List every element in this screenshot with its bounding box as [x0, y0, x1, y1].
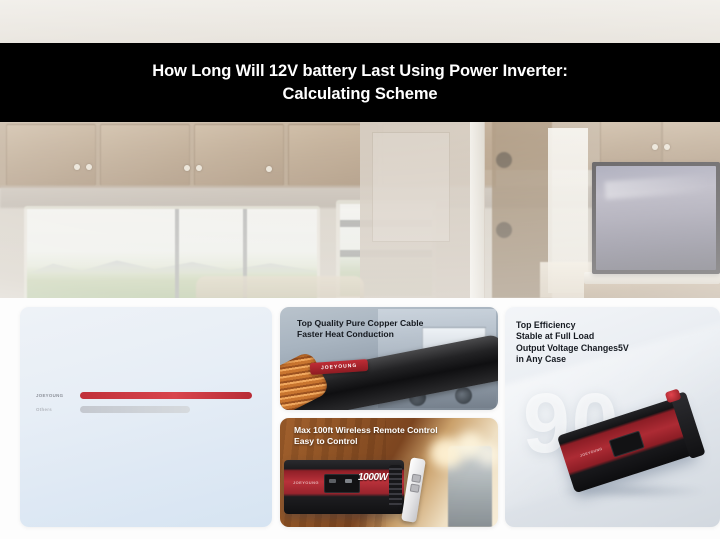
inverter-cooling-fan — [389, 465, 402, 507]
page-title-line1: How Long Will 12V battery Last Using Pow… — [30, 60, 690, 82]
title-banner: How Long Will 12V battery Last Using Pow… — [0, 43, 720, 122]
wireless-remote[interactable] — [401, 457, 426, 523]
panel-headline-efficiency: Top Efficiency Stable at Full Load Outpu… — [516, 320, 714, 365]
page-title-line2: Calculating Scheme — [30, 83, 690, 105]
inverter-product-remote-panel: JOEYOUNG 1000W — [284, 460, 404, 514]
panel-headline-remote-control: Max 100ft Wireless Remote Control Easy t… — [294, 425, 494, 447]
copper-strands — [280, 350, 331, 410]
comparison-brand-label: JOEYOUNG — [36, 393, 63, 398]
page-title: How Long Will 12V battery Last Using Pow… — [30, 60, 690, 105]
truck-wheel — [455, 387, 472, 404]
inverter-brand-label: JOEYOUNG — [293, 480, 319, 485]
comparison-other-label: Others — [36, 407, 52, 412]
comparison-chart: JOEYOUNG Others — [36, 392, 258, 426]
ac-outlet — [345, 479, 352, 483]
usb-port — [329, 479, 336, 483]
infographic-page: How Long Will 12V battery Last Using Pow… — [0, 0, 720, 539]
feature-panel-ac-power[interactable]: JOEYOUNG Others JOEYOUNG 1 — [20, 307, 272, 527]
remote-button-on[interactable] — [411, 474, 421, 483]
remote-button-off[interactable] — [410, 484, 420, 493]
panel-headline-copper-cable: Top Quality Pure Copper Cable Faster Hea… — [297, 318, 497, 340]
bokeh-light — [478, 444, 498, 466]
comparison-bar-brand — [80, 392, 252, 399]
comparison-bar-other — [80, 406, 190, 413]
inverter-port-panel — [324, 474, 360, 493]
inverter-wattage: 1000W — [358, 472, 388, 483]
